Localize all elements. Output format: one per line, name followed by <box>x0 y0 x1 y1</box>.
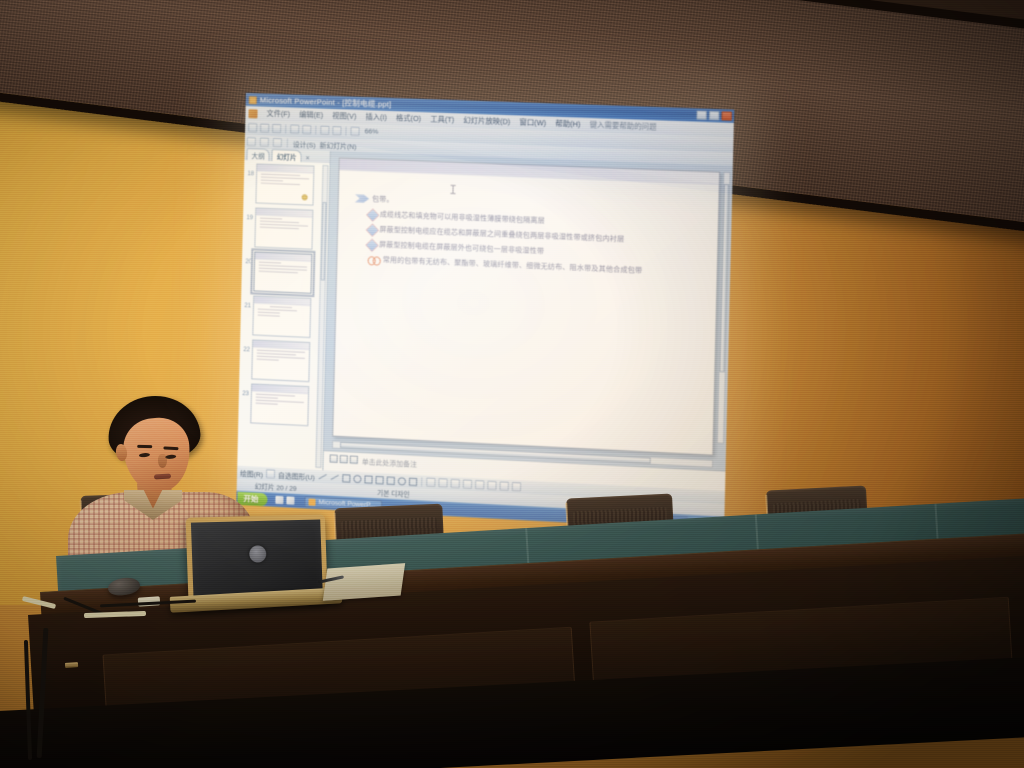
slide-sorter-icon[interactable] <box>340 455 348 463</box>
3d-style-icon[interactable] <box>511 482 520 492</box>
minimize-button[interactable] <box>696 110 707 120</box>
new-slide-button[interactable]: 新幻灯片(N) <box>320 139 357 150</box>
scrollbar-thumb[interactable] <box>720 184 730 373</box>
rectangle-icon[interactable] <box>342 474 350 482</box>
restore-button[interactable] <box>709 111 720 121</box>
arrow-icon[interactable] <box>330 475 338 480</box>
person-nose <box>158 454 167 468</box>
thumb-title-band <box>252 384 308 394</box>
font-color-icon[interactable] <box>450 479 459 489</box>
textbox-icon[interactable] <box>364 475 372 483</box>
numbering-icon[interactable] <box>260 138 269 147</box>
select-objects-icon[interactable] <box>266 469 275 478</box>
line-icon[interactable] <box>318 474 326 479</box>
slide-thumbnail[interactable] <box>255 163 314 205</box>
current-slide[interactable]: 包带。 成缆线芯和填充物可以用非吸湿性薄膜带绕包隔离层 屏蔽型控制电缆应在缆芯和 <box>332 157 720 455</box>
design-name: 기본 디자인 <box>377 487 410 499</box>
table-lock-icon <box>65 662 78 668</box>
new-icon[interactable] <box>248 123 257 132</box>
clipart-icon[interactable] <box>397 477 405 485</box>
photo-scene: Microsoft PowerPoint - [控制电缆.ppt] 文件(F) … <box>0 0 1024 768</box>
menu-item-tools[interactable]: 工具(T) <box>430 114 454 125</box>
thumbnail-number: 22 <box>242 339 250 353</box>
ie-icon[interactable] <box>286 496 294 504</box>
tab-outline[interactable]: 大纲 <box>246 148 269 161</box>
autoshapes-button[interactable]: 自选图形(U) <box>278 469 315 481</box>
window-controls <box>696 110 734 120</box>
normal-view-icon[interactable] <box>330 454 338 462</box>
thumb-title-band <box>253 340 309 350</box>
thumbnail-number: 18 <box>246 163 254 177</box>
thumbnail-number: 19 <box>245 207 253 221</box>
diamond-bullet-icon <box>367 209 378 220</box>
open-icon[interactable] <box>260 124 269 133</box>
powerpoint-icon <box>308 498 315 505</box>
help-search-box[interactable]: 键入需要帮助的问题 <box>590 120 657 133</box>
save-icon[interactable] <box>272 124 281 133</box>
scrollbar-thumb[interactable] <box>321 202 327 280</box>
slide-thumbnail-current[interactable] <box>253 251 312 294</box>
slideshow-icon[interactable] <box>350 455 358 463</box>
laptop-logo <box>249 545 266 563</box>
slide-canvas-area: 包带。 成缆线芯和填充物可以用非吸湿性薄膜带绕包隔离层 屏蔽型控制电缆应在缆芯和 <box>323 151 732 491</box>
fill-color-icon[interactable] <box>426 478 435 488</box>
paper-notepad <box>323 563 405 601</box>
show-desktop-icon[interactable] <box>275 496 283 504</box>
quick-launch-bar <box>271 496 294 505</box>
toolbar-separator <box>345 127 346 136</box>
line-color-icon[interactable] <box>438 478 447 488</box>
undo-icon[interactable] <box>302 125 311 134</box>
menu-item-insert[interactable]: 插入(I) <box>365 112 387 123</box>
thumb-title-band <box>257 164 313 173</box>
menu-item-format[interactable]: 格式(O) <box>396 113 421 124</box>
slide-editor[interactable]: 包带。 成缆线芯和填充物可以用非吸湿性薄膜带绕包隔离层 屏蔽型控制电缆应在缆芯和 <box>324 151 733 460</box>
text-cursor-icon <box>452 185 453 194</box>
chevron-bullet-icon <box>355 194 369 203</box>
diamond-bullet-icon <box>367 224 378 235</box>
design-button[interactable]: 设计(S) <box>293 138 316 149</box>
table-icon[interactable] <box>332 126 341 135</box>
menu-item-edit[interactable]: 编辑(E) <box>299 110 323 121</box>
zoom-level[interactable]: 66% <box>363 128 379 136</box>
oval-icon[interactable] <box>353 474 361 482</box>
dash-style-icon[interactable] <box>475 480 484 490</box>
toolbar-separator <box>287 139 288 148</box>
list-item[interactable]: 21 <box>242 295 318 338</box>
menu-item-file[interactable]: 文件(F) <box>266 109 290 120</box>
bullet-text: 屏蔽型控制电缆在屏蔽层外也可绕包一层非吸湿性带 <box>379 240 544 257</box>
powerpoint-window: Microsoft PowerPoint - [控制电缆.ppt] 文件(F) … <box>236 93 734 531</box>
shadow-style-icon[interactable] <box>499 481 508 491</box>
view-buttons <box>328 454 358 464</box>
diamond-bullet-icon <box>366 240 377 251</box>
wordart-icon[interactable] <box>375 475 383 483</box>
slide-thumbnail[interactable] <box>250 383 309 426</box>
thumb-title-band <box>255 252 311 261</box>
list-item[interactable]: 22 <box>241 339 317 383</box>
bullet-text: 包带。 <box>372 194 394 205</box>
notes-placeholder: 单击此处添加备注 <box>362 456 417 469</box>
thumb-image-icon <box>302 194 308 200</box>
slide-thumbnail[interactable] <box>251 339 310 382</box>
slide-thumbnail[interactable] <box>252 295 311 338</box>
menu-item-help[interactable]: 帮助(H) <box>555 119 580 130</box>
bullets-icon[interactable] <box>247 137 256 146</box>
list-item[interactable]: 20 <box>243 251 319 294</box>
menu-item-view[interactable]: 视图(V) <box>332 111 356 122</box>
thumbnail-number: 21 <box>243 295 251 309</box>
projection-screen: Microsoft PowerPoint - [控制电缆.ppt] 文件(F) … <box>236 93 734 531</box>
line-style-icon[interactable] <box>462 479 471 489</box>
columns-icon[interactable] <box>350 127 359 136</box>
chart-icon[interactable] <box>320 126 329 135</box>
powerpoint-icon <box>249 96 257 104</box>
close-button[interactable] <box>721 111 732 121</box>
print-icon[interactable] <box>290 125 299 134</box>
toolbar-separator <box>315 125 316 134</box>
workspace: 大纲 幻灯片 × 18 <box>237 148 733 491</box>
slide-content[interactable]: 包带。 成缆线芯和填充物可以用非吸湿性薄膜带绕包隔离层 屏蔽型控制电缆应在缆芯和 <box>337 171 719 291</box>
indent-icon[interactable] <box>273 138 282 147</box>
arrow-style-icon[interactable] <box>487 481 496 491</box>
slide-thumbnail[interactable] <box>254 207 313 249</box>
thumb-title-band <box>254 296 310 305</box>
list-item[interactable]: 19 <box>244 207 320 250</box>
tab-slides[interactable]: 幻灯片 <box>272 149 302 162</box>
infinity-bullet-icon <box>368 256 380 264</box>
diagram-icon[interactable] <box>386 476 394 484</box>
bullet-text: 成缆线芯和填充物可以用非吸湿性薄膜带绕包隔离层 <box>380 209 545 226</box>
thumb-title-band <box>256 208 312 217</box>
list-item[interactable]: 18 <box>245 163 321 206</box>
document-icon <box>248 109 257 118</box>
picture-icon[interactable] <box>409 477 417 485</box>
menu-item-slideshow[interactable]: 幻灯片放映(D) <box>463 116 510 128</box>
toolbar-separator <box>285 124 286 133</box>
menu-item-window[interactable]: 窗口(W) <box>519 118 546 129</box>
thumbnail-number: 20 <box>244 251 252 265</box>
